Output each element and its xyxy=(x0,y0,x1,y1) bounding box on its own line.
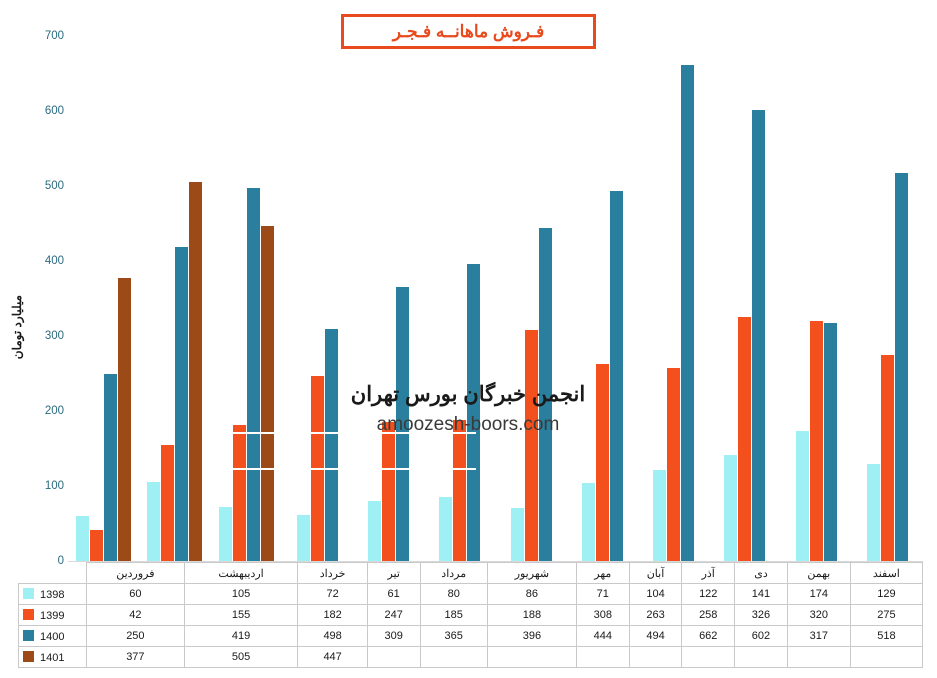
bar-1398-0 xyxy=(76,516,89,561)
bar-1400-4 xyxy=(396,287,409,561)
column-header-5: شهریور xyxy=(487,563,576,584)
cell-1400-3: 309 xyxy=(367,626,420,647)
cell-1400-6: 444 xyxy=(576,626,629,647)
column-header-3: تیر xyxy=(367,563,420,584)
bar-1398-7 xyxy=(582,483,595,561)
bar-group xyxy=(567,36,638,561)
bar-1399-0 xyxy=(90,530,103,562)
table-header-row: فروردیناردیبهشتخردادتیرمردادشهریورمهرآبا… xyxy=(19,563,923,584)
bar-1398-10 xyxy=(796,431,809,562)
cell-1398-2: 72 xyxy=(298,584,367,605)
legend-label-1401: 1401 xyxy=(40,652,64,664)
legend-swatch-icon-1400 xyxy=(23,630,34,641)
y-tick-500: 500 xyxy=(30,180,64,192)
bar-group xyxy=(353,36,424,561)
bar-1398-2 xyxy=(219,507,232,561)
cell-1400-4: 365 xyxy=(420,626,487,647)
watermark-rule-bottom xyxy=(218,468,476,470)
table-corner-cell xyxy=(19,563,87,584)
legend-item-1399[interactable]: 1399 xyxy=(19,605,87,626)
legend-item-1401[interactable]: 1401 xyxy=(19,647,87,668)
bar-1398-8 xyxy=(653,470,666,562)
bar-1399-4 xyxy=(382,422,395,561)
data-table: فروردیناردیبهشتخردادتیرمردادشهریورمهرآبا… xyxy=(18,562,923,668)
column-header-8: آذر xyxy=(682,563,735,584)
cell-1399-2: 182 xyxy=(298,605,367,626)
y-tick-700: 700 xyxy=(30,30,64,42)
cell-1398-3: 61 xyxy=(367,584,420,605)
cell-1399-11: 275 xyxy=(850,605,922,626)
bar-1398-5 xyxy=(439,497,452,562)
y-tick-100: 100 xyxy=(30,480,64,492)
bar-group xyxy=(211,36,282,561)
bar-group xyxy=(68,36,139,561)
cell-1401-6 xyxy=(576,647,629,668)
y-tick-400: 400 xyxy=(30,255,64,267)
legend-swatch-icon-1398 xyxy=(23,588,34,599)
column-header-0: فروردین xyxy=(87,563,185,584)
y-axis-tick-labels: 0100200300400500600700 xyxy=(30,36,64,561)
bars-container xyxy=(68,36,923,561)
table-row: 1400250419498309365396444494662602317518 xyxy=(19,626,923,647)
cell-1398-6: 71 xyxy=(576,584,629,605)
column-header-9: دی xyxy=(735,563,788,584)
bar-1400-9 xyxy=(752,110,765,562)
cell-1400-0: 250 xyxy=(87,626,185,647)
cell-1401-1: 505 xyxy=(184,647,298,668)
legend-label-1400: 1400 xyxy=(40,631,64,643)
bar-1399-6 xyxy=(525,330,538,561)
cell-1401-5 xyxy=(487,647,576,668)
bar-1400-3 xyxy=(325,329,338,561)
cell-1400-10: 317 xyxy=(787,626,850,647)
y-tick-200: 200 xyxy=(30,405,64,417)
legend-swatch-icon-1399 xyxy=(23,609,34,620)
cell-1401-10 xyxy=(787,647,850,668)
bar-1398-4 xyxy=(368,501,381,561)
cell-1398-7: 104 xyxy=(629,584,682,605)
table-row: 1398601057261808671104122141174129 xyxy=(19,584,923,605)
legend-item-1398[interactable]: 1398 xyxy=(19,584,87,605)
y-tick-600: 600 xyxy=(30,105,64,117)
bar-1400-5 xyxy=(467,264,480,561)
cell-1400-5: 396 xyxy=(487,626,576,647)
cell-1401-4 xyxy=(420,647,487,668)
y-axis-title: میلیارد تومان xyxy=(6,262,28,392)
cell-1399-0: 42 xyxy=(87,605,185,626)
watermark-rule-top xyxy=(218,432,476,434)
legend-label-1398: 1398 xyxy=(40,589,64,601)
bar-group xyxy=(282,36,353,561)
bar-1399-7 xyxy=(596,364,609,561)
cell-1401-2: 447 xyxy=(298,647,367,668)
cell-1401-3 xyxy=(367,647,420,668)
cell-1399-5: 188 xyxy=(487,605,576,626)
legend-label-1399: 1399 xyxy=(40,610,64,622)
cell-1400-11: 518 xyxy=(850,626,922,647)
column-header-2: خرداد xyxy=(298,563,367,584)
cell-1398-11: 129 xyxy=(850,584,922,605)
cell-1400-8: 662 xyxy=(682,626,735,647)
bar-1398-6 xyxy=(511,508,524,561)
cell-1399-1: 155 xyxy=(184,605,298,626)
cell-1400-1: 419 xyxy=(184,626,298,647)
y-axis-title-label: میلیارد تومان xyxy=(10,295,24,359)
bar-1400-1 xyxy=(175,247,188,561)
bar-1400-2 xyxy=(247,188,260,562)
bar-1399-10 xyxy=(810,321,823,561)
bar-group xyxy=(496,36,567,561)
cell-1401-0: 377 xyxy=(87,647,185,668)
cell-1399-7: 263 xyxy=(629,605,682,626)
bar-1398-9 xyxy=(724,455,737,561)
cell-1399-4: 185 xyxy=(420,605,487,626)
cell-1398-10: 174 xyxy=(787,584,850,605)
legend-swatch-icon-1401 xyxy=(23,651,34,662)
bar-1400-8 xyxy=(681,65,694,562)
bar-1401-0 xyxy=(118,278,131,561)
bar-1401-2 xyxy=(261,226,274,561)
column-header-6: مهر xyxy=(576,563,629,584)
cell-1398-1: 105 xyxy=(184,584,298,605)
bar-1399-2 xyxy=(233,425,246,562)
bar-1399-5 xyxy=(453,420,466,561)
column-header-10: بهمن xyxy=(787,563,850,584)
column-header-1: اردیبهشت xyxy=(184,563,298,584)
table-row: 139942155182247185188308263258326320275 xyxy=(19,605,923,626)
bar-group xyxy=(139,36,210,561)
cell-1399-10: 320 xyxy=(787,605,850,626)
bar-group xyxy=(852,36,923,561)
column-header-11: اسفند xyxy=(850,563,922,584)
cell-1400-7: 494 xyxy=(629,626,682,647)
column-header-4: مرداد xyxy=(420,563,487,584)
cell-1398-4: 80 xyxy=(420,584,487,605)
bar-1400-10 xyxy=(824,323,837,561)
bar-1399-8 xyxy=(667,368,680,562)
cell-1401-11 xyxy=(850,647,922,668)
bar-1399-9 xyxy=(738,317,751,562)
bar-1400-11 xyxy=(895,173,908,562)
bar-group xyxy=(781,36,852,561)
cell-1401-7 xyxy=(629,647,682,668)
bar-1399-11 xyxy=(881,355,894,561)
bar-1401-1 xyxy=(189,182,202,561)
cell-1399-6: 308 xyxy=(576,605,629,626)
legend-item-1400[interactable]: 1400 xyxy=(19,626,87,647)
y-tick-300: 300 xyxy=(30,330,64,342)
bar-1399-1 xyxy=(161,445,174,561)
cell-1398-0: 60 xyxy=(87,584,185,605)
cell-1398-9: 141 xyxy=(735,584,788,605)
table-row: 1401377505447 xyxy=(19,647,923,668)
cell-1398-8: 122 xyxy=(682,584,735,605)
bar-group xyxy=(424,36,495,561)
cell-1400-9: 602 xyxy=(735,626,788,647)
bar-group xyxy=(709,36,780,561)
bar-1400-7 xyxy=(610,191,623,562)
cell-1399-9: 326 xyxy=(735,605,788,626)
bar-1398-3 xyxy=(297,515,310,561)
bar-1398-1 xyxy=(147,482,160,561)
bar-1398-11 xyxy=(867,464,880,561)
column-header-7: آبان xyxy=(629,563,682,584)
bar-group xyxy=(638,36,709,561)
cell-1398-5: 86 xyxy=(487,584,576,605)
bar-1400-6 xyxy=(539,228,552,561)
bar-1400-0 xyxy=(104,374,117,562)
cell-1399-3: 247 xyxy=(367,605,420,626)
cell-1399-8: 258 xyxy=(682,605,735,626)
cell-1400-2: 498 xyxy=(298,626,367,647)
cell-1401-9 xyxy=(735,647,788,668)
cell-1401-8 xyxy=(682,647,735,668)
